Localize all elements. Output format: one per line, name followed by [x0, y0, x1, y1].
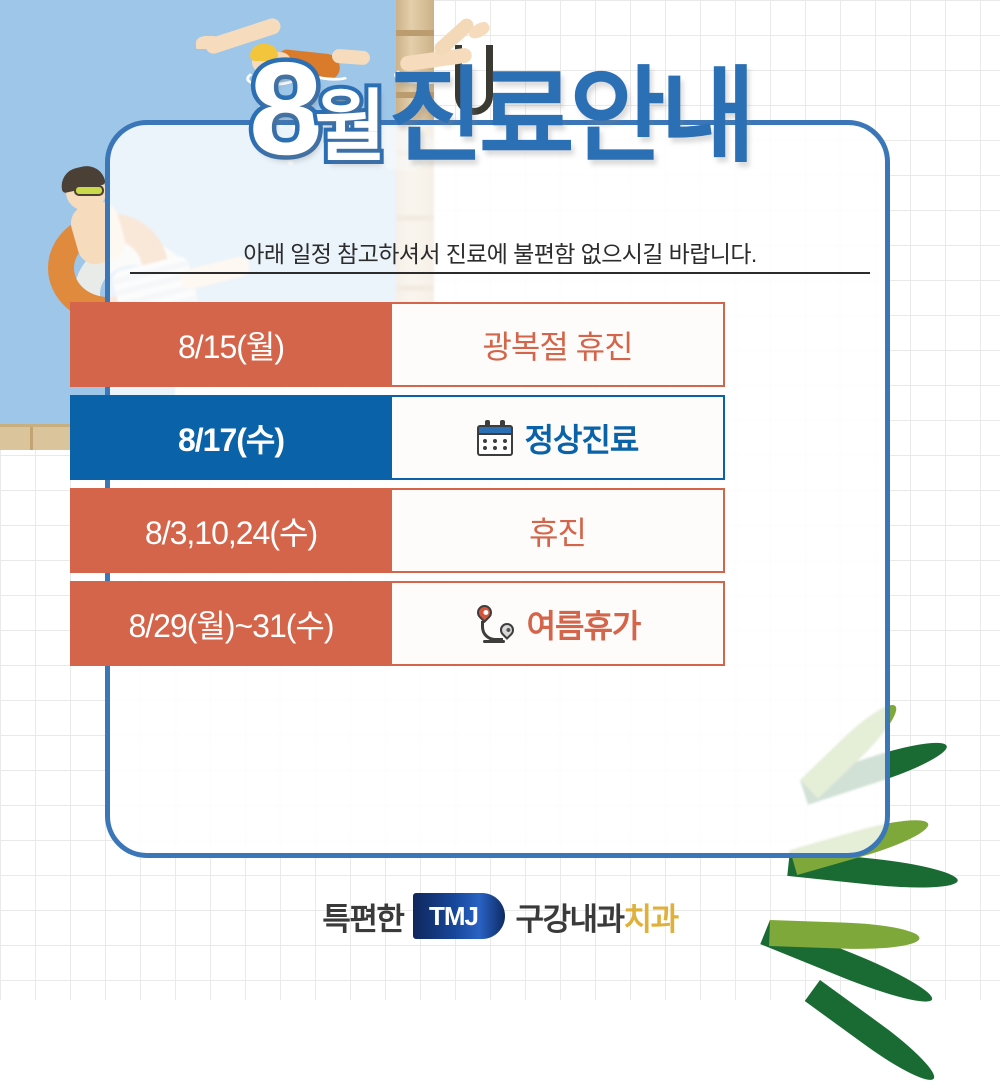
- title-month-number: 8: [249, 48, 318, 169]
- subtitle-divider: [130, 272, 870, 274]
- title-main-text: 진료안내: [388, 65, 751, 169]
- schedule-desc-2: 휴진: [392, 488, 725, 573]
- schedule-desc-text-3: 여름휴가: [527, 601, 641, 647]
- schedule-date-2: 8/3,10,24(수): [70, 488, 392, 573]
- clinic-name-part2: 치과: [624, 902, 678, 937]
- footer-tagline: 특편한: [322, 894, 403, 939]
- table-row: 8/29(월)~31(수) 여름휴가: [70, 581, 725, 666]
- calendar-icon: [477, 420, 513, 456]
- table-row: 8/17(수) 정상진료: [70, 395, 725, 480]
- route-icon: [475, 605, 515, 643]
- title-month-unit: 월: [314, 87, 386, 165]
- footer-logo: 특편한 TMJ 구강내과치과: [0, 893, 1000, 939]
- tmj-logo-text: TMJ: [429, 901, 478, 932]
- schedule-date-1: 8/17(수): [70, 395, 392, 480]
- schedule-table: 8/15(월) 광복절 휴진 8/17(수) 정상진료 8/3,10,24(수)…: [70, 302, 725, 666]
- clinic-name: 구강내과치과: [515, 894, 677, 939]
- clinic-name-part1: 구강내과: [515, 902, 623, 937]
- table-row: 8/3,10,24(수) 휴진: [70, 488, 725, 573]
- schedule-desc-3: 여름휴가: [392, 581, 725, 666]
- schedule-date-3: 8/29(월)~31(수): [70, 581, 392, 666]
- schedule-desc-text-0: 광복절 휴진: [482, 322, 632, 368]
- schedule-desc-text-1: 정상진료: [525, 415, 639, 461]
- table-row: 8/15(월) 광복절 휴진: [70, 302, 725, 387]
- schedule-date-0: 8/15(월): [70, 302, 392, 387]
- schedule-desc-0: 광복절 휴진: [392, 302, 725, 387]
- schedule-desc-1: 정상진료: [392, 395, 725, 480]
- page-title: 8 월 진료안내: [0, 48, 1000, 169]
- schedule-desc-text-2: 휴진: [529, 508, 586, 554]
- tmj-logo-icon: TMJ: [413, 893, 505, 939]
